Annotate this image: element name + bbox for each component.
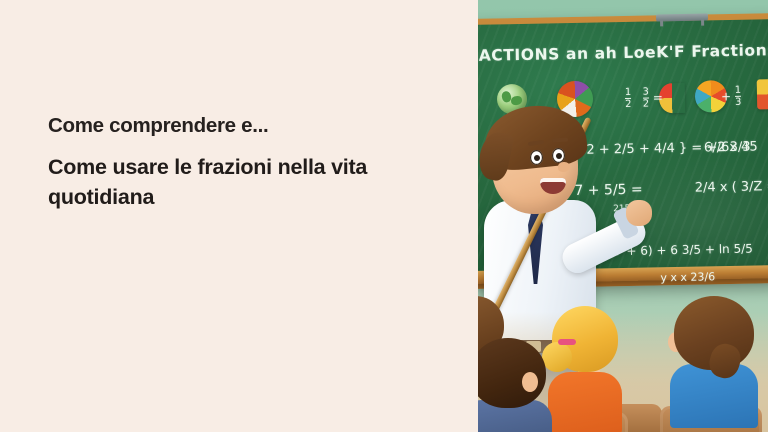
student-shirt-blonde — [548, 372, 622, 432]
student-head-foreground — [478, 338, 546, 408]
student-ear-foreground — [522, 372, 538, 392]
student-dark-hair-foreground — [478, 338, 554, 432]
eyebrow-title: Come comprendere e... — [48, 112, 438, 139]
text-panel: Come comprendere e... Come usare le fraz… — [0, 0, 478, 432]
teacher-hand — [626, 200, 652, 226]
illustration-panel: RACTIONS an ah LoeK'F Fractions f 1 2 3 … — [478, 0, 768, 432]
slide-root: Come comprendere e... Come usare le fraz… — [0, 0, 768, 432]
student-brunette-ponytail — [664, 296, 768, 432]
teacher-eye-left — [530, 150, 543, 165]
classroom-illustration: RACTIONS an ah LoeK'F Fractions f 1 2 3 … — [478, 0, 768, 432]
page-title: Come usare le frazioni nella vita quotid… — [48, 152, 418, 212]
student-hair-tie-blonde — [558, 339, 576, 345]
chalk-holder-icon — [656, 14, 708, 22]
teacher-eye-right — [552, 148, 565, 163]
